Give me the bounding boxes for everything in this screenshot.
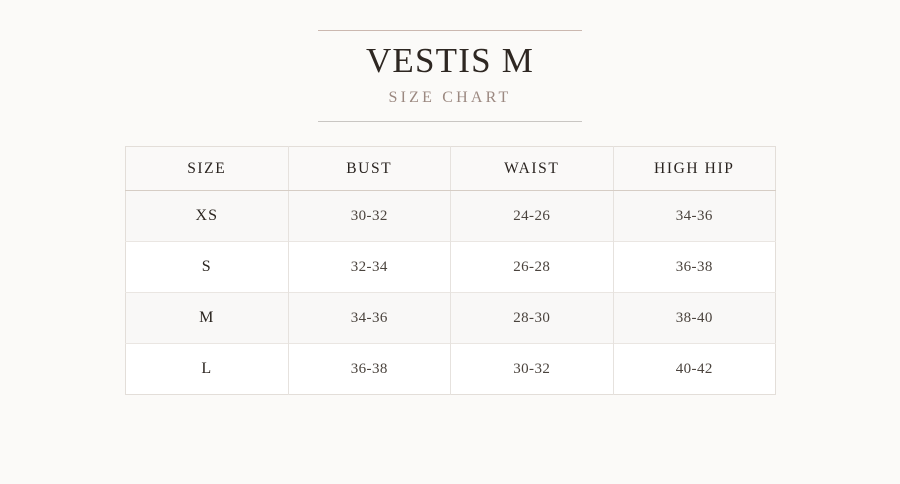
cell-bust: 32-34 (288, 242, 451, 293)
size-chart-table: SIZE BUST WAIST HIGH HIP XS 30-32 24-26 … (125, 146, 776, 395)
cell-high-hip: 38-40 (613, 293, 776, 344)
page-title: VESTIS M (318, 42, 582, 80)
table-row: L 36-38 30-32 40-42 (126, 344, 776, 395)
page-subtitle: SIZE CHART (318, 89, 582, 107)
table-row: M 34-36 28-30 38-40 (126, 293, 776, 344)
decorative-rule-top (318, 30, 582, 31)
decorative-rule-bottom (318, 121, 582, 122)
cell-bust: 30-32 (288, 191, 451, 242)
cell-size: XS (126, 191, 289, 242)
cell-waist: 28-30 (451, 293, 614, 344)
table-row: XS 30-32 24-26 34-36 (126, 191, 776, 242)
cell-size: S (126, 242, 289, 293)
cell-high-hip: 34-36 (613, 191, 776, 242)
cell-waist: 30-32 (451, 344, 614, 395)
cell-bust: 34-36 (288, 293, 451, 344)
cell-bust: 36-38 (288, 344, 451, 395)
table-header-row: SIZE BUST WAIST HIGH HIP (126, 147, 776, 191)
cell-high-hip: 36-38 (613, 242, 776, 293)
column-header-waist: WAIST (451, 147, 614, 191)
column-header-size: SIZE (126, 147, 289, 191)
cell-waist: 26-28 (451, 242, 614, 293)
cell-high-hip: 40-42 (613, 344, 776, 395)
title-block: VESTIS M SIZE CHART (318, 30, 582, 122)
cell-size: L (126, 344, 289, 395)
column-header-bust: BUST (288, 147, 451, 191)
table-row: S 32-34 26-28 36-38 (126, 242, 776, 293)
column-header-high-hip: HIGH HIP (613, 147, 776, 191)
cell-size: M (126, 293, 289, 344)
cell-waist: 24-26 (451, 191, 614, 242)
